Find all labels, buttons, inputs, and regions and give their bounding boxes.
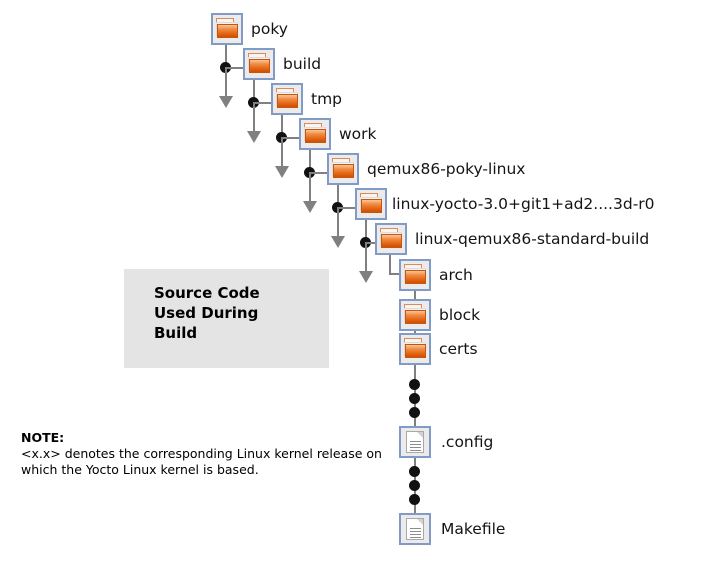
tree-node-block[interactable]: [399, 299, 431, 331]
arrow-down-poky: [219, 96, 233, 108]
arrow-down-work: [303, 201, 317, 213]
note-block: NOTE: <x.x> denotes the corresponding Li…: [21, 430, 401, 478]
connector-down-tmp: [281, 137, 283, 168]
connector-down-work: [309, 172, 311, 203]
arrow-down-qemux86: [331, 236, 345, 248]
tree-node-label-linux-qemux86-standard-build: linux-qemux86-standard-build: [415, 230, 649, 248]
tree-node-label-arch: arch: [439, 266, 473, 284]
folder-icon: [211, 13, 243, 45]
tree-node-label-build: build: [283, 55, 321, 73]
folder-icon: [375, 223, 407, 255]
arrow-down-tmp: [275, 166, 289, 178]
tree-node-poky[interactable]: [211, 13, 243, 45]
tree-node-qemux86-poky-linux[interactable]: [327, 153, 359, 185]
ellipsis-dot: [409, 466, 420, 477]
arrow-down-build: [247, 131, 261, 143]
ellipsis-dot: [409, 379, 420, 390]
tree-node-label-linux-yocto: linux-yocto-3.0+git1+ad2....3d-r0: [392, 195, 655, 213]
tree-node-linux-yocto[interactable]: [355, 188, 387, 220]
note-body: <x.x> denotes the corresponding Linux ke…: [21, 446, 401, 478]
arrow-down-linux-yocto: [359, 271, 373, 283]
tree-node-label-work: work: [339, 125, 377, 143]
connector-down-qemux86: [337, 207, 339, 238]
connector-down-linux-yocto: [365, 242, 367, 273]
folder-icon: [299, 118, 331, 150]
connector-down-poky: [225, 67, 227, 98]
connector-vertical-standard-build: [389, 255, 391, 275]
tree-node-makefile[interactable]: [399, 513, 431, 545]
callout-box-source-code: Source Code Used During Build: [124, 269, 329, 368]
tree-node-label-makefile: Makefile: [441, 520, 505, 538]
folder-icon: [399, 259, 431, 291]
tree-node-linux-qemux86-standard-build[interactable]: [375, 223, 407, 255]
tree-node-label-qemux86-poky-linux: qemux86-poky-linux: [367, 160, 525, 178]
document-icon: [399, 513, 431, 545]
folder-icon: [399, 333, 431, 365]
tree-node-arch[interactable]: [399, 259, 431, 291]
tree-node-label-poky: poky: [251, 20, 288, 38]
ellipsis-dot: [409, 494, 420, 505]
tree-node-tmp[interactable]: [271, 83, 303, 115]
folder-icon: [327, 153, 359, 185]
folder-icon: [243, 48, 275, 80]
document-icon: [399, 426, 431, 458]
tree-node-label-tmp: tmp: [311, 90, 342, 108]
tree-node-build[interactable]: [243, 48, 275, 80]
folder-icon: [271, 83, 303, 115]
callout-text: Source Code Used During Build: [154, 283, 260, 343]
tree-node-work[interactable]: [299, 118, 331, 150]
connector-down-build: [253, 102, 255, 133]
folder-icon: [355, 188, 387, 220]
tree-node-label-config: .config: [441, 433, 493, 451]
ellipsis-dot: [409, 393, 420, 404]
note-title: NOTE:: [21, 430, 401, 446]
tree-node-certs[interactable]: [399, 333, 431, 365]
tree-node-config[interactable]: [399, 426, 431, 458]
ellipsis-dot: [409, 407, 420, 418]
ellipsis-dot: [409, 480, 420, 491]
tree-node-label-certs: certs: [439, 340, 478, 358]
directory-tree-diagram: poky build tmp work qemux86-poky-linux l…: [0, 0, 705, 581]
tree-node-label-block: block: [439, 306, 480, 324]
folder-icon: [399, 299, 431, 331]
